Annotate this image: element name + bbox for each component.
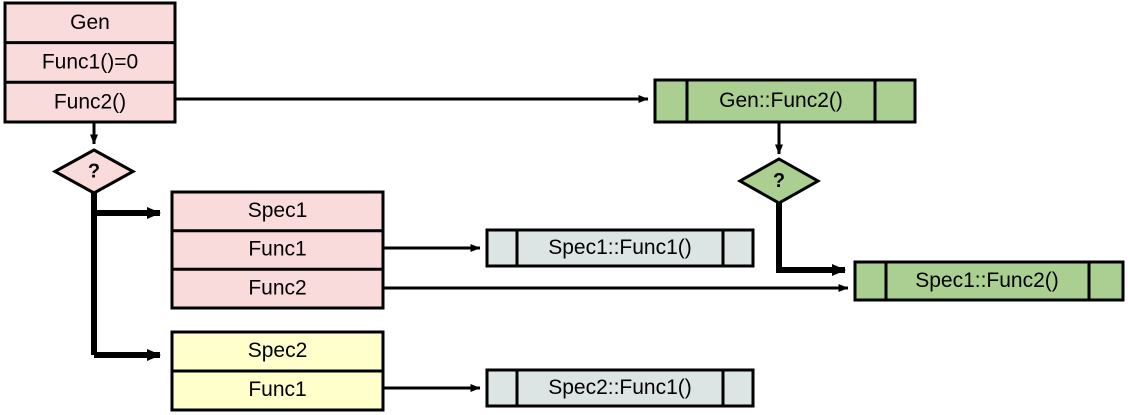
diagram-canvas: Gen Func1()=0 Func2() ? Spec1 Func1 Func… (0, 0, 1128, 415)
impl-bar-spec1-func2-label: Spec1::Func2() (915, 269, 1059, 292)
class-box-gen[interactable]: Gen Func1()=0 Func2() (5, 3, 175, 122)
class-spec2-row-1: Func1 (248, 378, 306, 401)
class-box-spec1[interactable]: Spec1 Func1 Func2 (172, 192, 383, 308)
decision-diamond-gen-label: ? (88, 160, 100, 182)
impl-bar-spec1-func1[interactable]: Spec1::Func1() (487, 230, 753, 266)
decision-diamond-genfunc2-label: ? (773, 170, 785, 192)
class-box-spec2[interactable]: Spec2 Func1 (172, 332, 383, 410)
edge-decision-branch-green (779, 203, 845, 270)
class-gen-row-1: Func1()=0 (42, 51, 138, 74)
impl-bar-gen-func2[interactable]: Gen::Func2() (655, 80, 915, 122)
impl-bar-spec2-func1-label: Spec2::Func1() (548, 376, 692, 399)
decision-diamond-genfunc2[interactable]: ? (740, 159, 818, 203)
class-spec1-row-0: Spec1 (248, 199, 308, 222)
decision-diamond-gen[interactable]: ? (55, 150, 133, 193)
impl-bar-spec2-func1[interactable]: Spec2::Func1() (487, 370, 753, 406)
class-gen-row-0: Gen (70, 11, 110, 34)
class-gen-row-2: Func2() (54, 91, 126, 114)
class-spec2-row-0: Spec2 (248, 339, 308, 362)
edge-decision-branch-pink (94, 193, 160, 355)
impl-bar-spec1-func2[interactable]: Spec1::Func2() (855, 262, 1123, 300)
impl-bar-gen-func2-label: Gen::Func2() (719, 89, 843, 112)
class-spec1-row-1: Func1 (248, 238, 306, 261)
class-spec1-row-2: Func2 (248, 277, 306, 300)
impl-bar-spec1-func1-label: Spec1::Func1() (548, 236, 692, 259)
